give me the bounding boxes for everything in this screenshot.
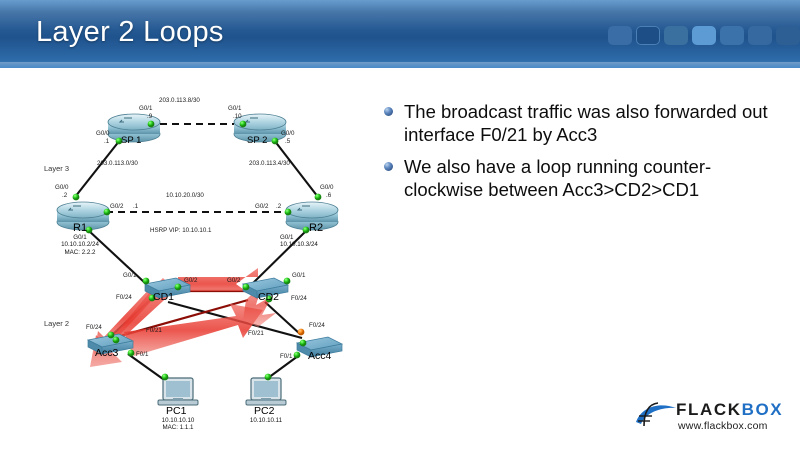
slide: Layer 2 Loops The broadcast traffic was … [0, 0, 800, 450]
device-detail-pc2: 10.10.10.11 [216, 417, 316, 424]
bullet-text: The broadcast traffic was also forwarded… [404, 100, 784, 146]
iface-acc3-f024: F0/24 [86, 324, 102, 332]
device-label-acc3: Acc3 [95, 347, 118, 359]
header-square-2 [636, 26, 660, 45]
layer2-label: Layer 2 [44, 319, 69, 328]
device-label-sp2: SP 2 [247, 135, 267, 146]
iface-acc4-f024: F0/24 [309, 322, 325, 330]
led-r1-g00 [73, 194, 80, 201]
iface-sp2-g01: G0/1 [228, 105, 241, 113]
subnet-sp1-r1: 203.0.113.0/30 [97, 160, 138, 168]
iface-sp2-g01-ip: .10 [233, 113, 242, 121]
bullet-text: We also have a loop running counter-cloc… [404, 155, 784, 201]
device-pc1[interactable] [158, 378, 198, 405]
subnet-sp2-r2: 203.0.113.4/30 [249, 160, 290, 168]
iface-cd1-g01: G0/1 [123, 272, 136, 280]
iface-r1-g00-ip: .2 [62, 192, 67, 200]
header-square-6 [748, 26, 772, 45]
header-square-3 [664, 26, 688, 45]
device-pc2[interactable] [246, 378, 286, 405]
iface-sp1-g00-ip: .1 [104, 138, 109, 146]
header-square-4 [692, 26, 716, 45]
iface-acc4-f021: F0/21 [248, 330, 264, 338]
device-label-pc2: PC2 [254, 405, 274, 417]
led-pc1-nic [162, 374, 169, 381]
bullet-dot-icon [384, 107, 393, 116]
iface-acc4-f01: F0/1 [280, 353, 292, 361]
iface-acc3-f01: F0/1 [136, 351, 148, 359]
hsrp-vip-label: HSRP VIP: 10.10.10.1 [150, 227, 211, 235]
led-acc3-f024 [108, 332, 115, 339]
header-square-decoration [608, 26, 800, 45]
iface-sp2-g00: G0/0 [281, 130, 294, 138]
led-acc3-f021 [113, 337, 120, 344]
led-sp2-g00 [272, 138, 279, 145]
iface-cd1-g02: G0/2 [184, 277, 197, 285]
device-label-r1: R1 [73, 222, 87, 234]
led-r2-g00 [315, 194, 322, 201]
device-label-pc1: PC1 [166, 405, 186, 417]
iface-sp1-g01-ip: .9 [147, 113, 152, 121]
led-sp1-g01 [148, 121, 155, 128]
iface-sp1-g00: G0/0 [96, 130, 109, 138]
subnet-r1-r2: 10.10.20.0/30 [166, 192, 204, 200]
device-label-sp1: SP 1 [121, 135, 141, 146]
subnet-sp1-sp2: 203.0.113.8/30 [159, 97, 200, 105]
iface-sp2-g00-ip: .5 [285, 138, 290, 146]
led-cd1-g02 [175, 284, 182, 291]
header-square-1 [608, 26, 632, 45]
flackbox-mark-icon [634, 400, 678, 428]
link-sp2-r2 [274, 140, 318, 197]
bullet-item: The broadcast traffic was also forwarded… [384, 100, 784, 146]
device-detail-r1: G0/1 10.10.10.2/24 MAC: 2.2.2 [30, 234, 130, 256]
led-sp2-g01 [240, 121, 247, 128]
led-cd2-g02 [243, 284, 250, 291]
led-acc3-f01 [128, 350, 135, 357]
logo-flack-text: FLACK [676, 400, 742, 419]
device-label-cd2: CD2 [258, 291, 279, 303]
led-pc2-nic [265, 374, 272, 381]
device-detail-pc1: 10.10.10.10 MAC: 1.1.1 [128, 417, 228, 432]
iface-cd2-g02: G0/2 [227, 277, 240, 285]
bullet-dot-icon [384, 162, 393, 171]
led-r2-g02 [285, 209, 292, 216]
flackbox-logo: FLACKBOX www.flackbox.com [634, 398, 784, 440]
led-acc4-f01 [294, 352, 301, 359]
layer3-label: Layer 3 [44, 164, 69, 173]
flackbox-wordmark: FLACKBOX [676, 400, 783, 420]
iface-r2-g02: G0/2 [255, 203, 268, 211]
device-label-cd1: CD1 [153, 291, 174, 303]
device-detail-r2: G0/1 10.10.10.3/24 [280, 234, 380, 249]
iface-cd1-f024: F0/24 [116, 294, 132, 302]
iface-r2-g00-ip: .6 [326, 192, 331, 200]
led-acc4-f024-blocking [298, 329, 305, 336]
logo-url: www.flackbox.com [678, 420, 768, 432]
slide-header: Layer 2 Loops [0, 0, 800, 68]
logo-box-text: BOX [742, 400, 784, 419]
iface-r1-g02-ip: .1 [133, 203, 138, 211]
iface-sp1-g01: G0/1 [139, 105, 152, 113]
bullet-item: We also have a loop running counter-cloc… [384, 155, 784, 201]
topology-svg [0, 72, 384, 450]
led-cd2-g01 [284, 278, 291, 285]
led-acc4-f021 [300, 340, 307, 347]
iface-cd2-g01: G0/1 [292, 272, 305, 280]
bullet-list: The broadcast traffic was also forwarded… [384, 100, 784, 210]
page-title: Layer 2 Loops [36, 16, 224, 49]
iface-r2-g02-ip: .2 [276, 203, 281, 211]
iface-r2-g00: G0/0 [320, 184, 333, 192]
iface-r1-g02: G0/2 [110, 203, 123, 211]
header-square-5 [720, 26, 744, 45]
iface-cd2-f024: F0/24 [291, 295, 307, 303]
link-sp1-r1 [75, 140, 120, 197]
iface-acc3-f021: F0/21 [146, 327, 162, 335]
device-label-acc4: Acc4 [308, 350, 331, 362]
led-cd1-g01 [143, 278, 150, 285]
header-square-7 [776, 26, 800, 45]
network-topology-diagram: Layer 3 Layer 2 203.0.113.8/30 203.0.113… [0, 72, 384, 450]
device-label-r2: R2 [309, 222, 323, 234]
iface-r1-g00: G0/0 [55, 184, 68, 192]
